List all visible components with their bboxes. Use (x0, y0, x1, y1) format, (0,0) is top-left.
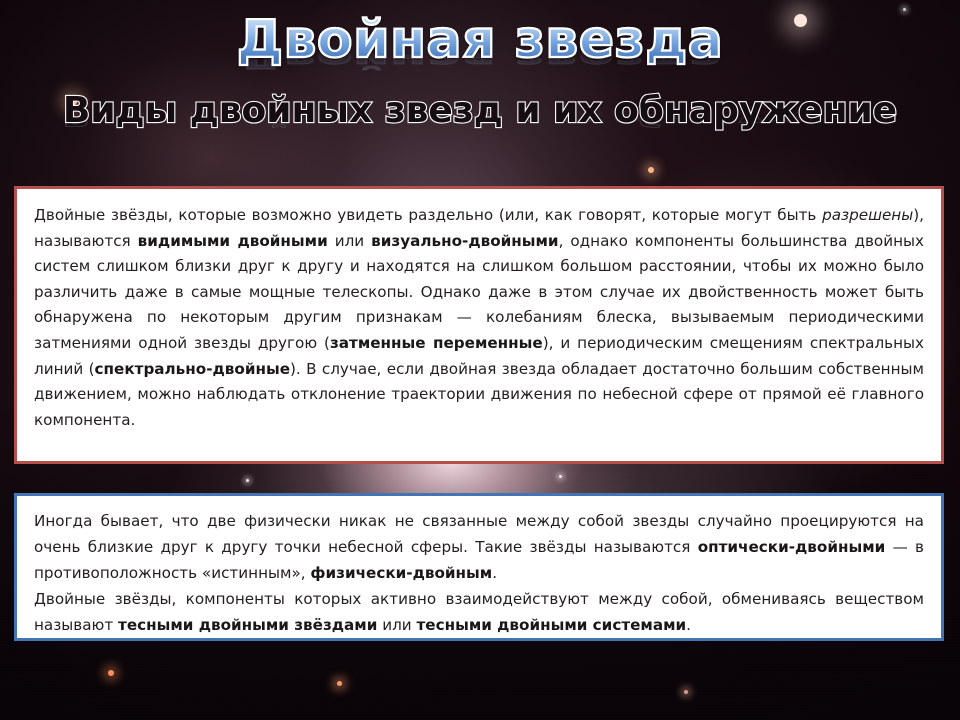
italic-term: разрешены (822, 206, 913, 224)
emphasis-term: затменные переменные (330, 334, 543, 352)
text-run: Двойные звёзды, которые возможно увидеть… (34, 206, 822, 224)
slide-subtitle: Виды двойных звезд и их обнаружение (0, 93, 960, 129)
emphasis-term: оптически-двойными (698, 538, 886, 556)
paragraph: Двойные звёзды, компоненты которых актив… (34, 586, 924, 638)
text-run: или (328, 232, 371, 250)
emphasis-term: тесными двойными системами (416, 616, 686, 634)
text-run: или (377, 616, 416, 634)
text-panel-secondary: Иногда бывает, что две физически никак н… (14, 493, 944, 641)
paragraph: Иногда бывает, что две физически никак н… (34, 508, 924, 586)
emphasis-term: физически-двойным (310, 564, 492, 582)
slide: Двойная звезда Двойная звезда Виды двойн… (0, 0, 960, 720)
slide-title: Двойная звезда (0, 14, 960, 66)
text-run: . (492, 564, 497, 582)
emphasis-term: визуально-двойными (371, 232, 558, 250)
emphasis-term: тесными двойными звёздами (118, 616, 377, 634)
emphasis-term: видимыми двойными (138, 232, 328, 250)
paragraph: Двойные звёзды, которые возможно увидеть… (34, 203, 924, 433)
text-run: . (686, 616, 691, 634)
text-panel-primary: Двойные звёзды, которые возможно увидеть… (14, 186, 944, 464)
emphasis-term: спектрально-двойные (95, 360, 290, 378)
title-area: Двойная звезда Двойная звезда Виды двойн… (0, 0, 960, 180)
